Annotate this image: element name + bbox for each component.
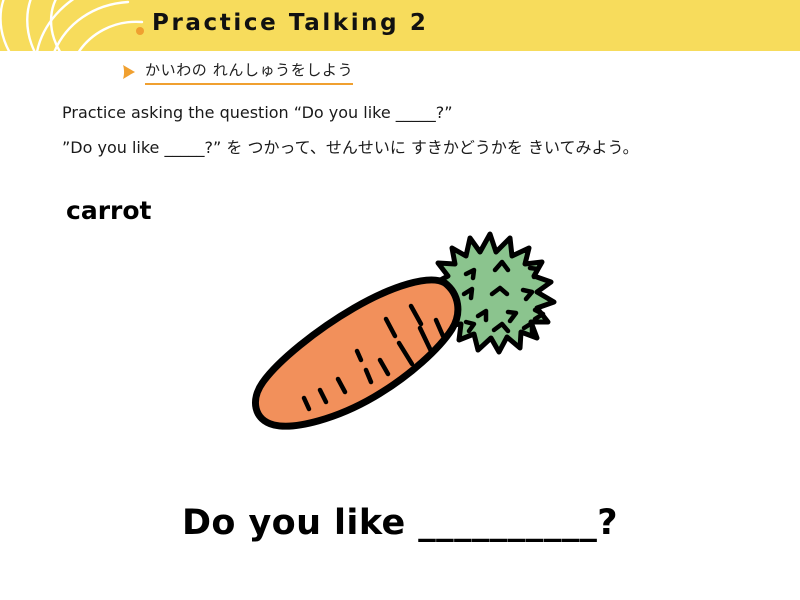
vocabulary-word-label: carrot xyxy=(66,196,151,225)
question-prompt: Do you like __________? xyxy=(0,503,800,543)
triangle-arrow-right-icon xyxy=(122,64,136,80)
instruction-line-japanese: ”Do you like _____?” を つかって、せんせいに すきかどうか… xyxy=(62,134,639,158)
dot-bullet-icon xyxy=(136,27,144,35)
carrot-image xyxy=(240,212,590,457)
slide-canvas: Practice Talking 2 かいわの れんしゅうをしよう Practi… xyxy=(0,0,800,600)
page-title: Practice Talking 2 xyxy=(152,10,428,36)
carrot-illustration xyxy=(240,212,590,457)
subtitle-text: かいわの れんしゅうをしよう xyxy=(145,59,353,85)
leaf-swirl-decoration-icon xyxy=(0,0,150,51)
header-band: Practice Talking 2 xyxy=(0,0,800,51)
subtitle-row: かいわの れんしゅうをしよう xyxy=(122,59,353,85)
instruction-line-english: Practice asking the question “Do you lik… xyxy=(62,103,453,122)
